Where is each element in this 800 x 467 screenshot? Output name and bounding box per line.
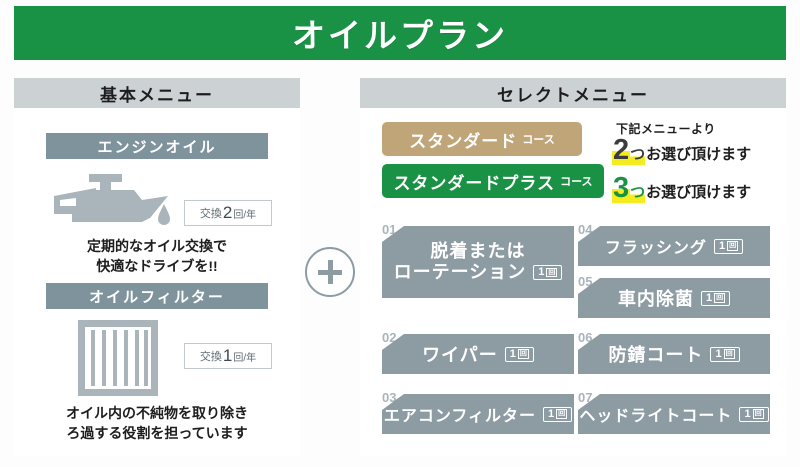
menu-item-03-count-badge: 1 回 (543, 407, 572, 422)
oil-filter-description-line2: ろ過する役割を担っています (14, 423, 300, 443)
oil-filter-badge-unit: 回/年 (233, 349, 256, 364)
menu-item-04-label: フラッシング (605, 234, 707, 258)
menu-item-07[interactable]: ヘッドライトコート 1 回 (578, 394, 770, 434)
course-standard-plus-name: スタンダードプラス (393, 169, 555, 194)
oil-filter-icon (76, 318, 160, 398)
engine-oil-badge-prefix: 交換 (200, 205, 222, 221)
select-menu-header: セレクトメニュー (360, 78, 786, 108)
menu-item-05-count-value: 1 (706, 293, 712, 304)
pick-count-standard-plus: 3 つ お選び頂けます (612, 174, 751, 203)
oil-filter-title-bar: オイルフィルター (46, 283, 268, 309)
course-standard-button[interactable]: スタンダード コース (382, 122, 582, 156)
course-standard-plus-suffix: コース (560, 173, 592, 189)
plus-icon (305, 247, 355, 297)
page-banner: オイルプラン (14, 6, 786, 60)
menu-item-06-count-badge: 1 回 (710, 347, 739, 362)
engine-oil-title-bar: エンジンオイル (46, 133, 268, 159)
menu-item-05-label: 車内除菌 (618, 285, 694, 311)
menu-item-02[interactable]: ワイパー 1 回 (382, 334, 574, 374)
basic-menu-header-label: 基本メニュー (100, 81, 214, 106)
oil-filter-badge-prefix: 交換 (200, 348, 222, 364)
menu-item-07-count-value: 1 (744, 409, 750, 420)
pick-count-standard-plus-counter: つ (630, 185, 645, 203)
menu-item-05[interactable]: 車内除菌 1 回 (578, 278, 770, 318)
menu-item-01[interactable]: 脱着または ローテーション 1 回 (382, 226, 574, 298)
menu-item-01-label-line2: ローテーション (394, 262, 527, 283)
menu-item-05-count-badge: 1 回 (701, 291, 730, 306)
menu-item-06-count-unit: 回 (724, 349, 735, 359)
menu-item-02-count-value: 1 (510, 349, 516, 360)
menu-item-01-count-value: 1 (538, 267, 544, 278)
oil-filter-description-line1: オイル内の不純物を取り除き (14, 403, 300, 423)
oil-filter-badge-count: 1 (223, 346, 232, 366)
pick-count-standard: 2 つ お選び頂けます (612, 136, 751, 165)
menu-item-04-count-unit: 回 (727, 241, 738, 251)
menu-item-04[interactable]: フラッシング 1 回 (578, 226, 770, 266)
course-standard-name: スタンダード (409, 127, 517, 152)
menu-item-03-label: エアコンフィルター (384, 402, 536, 426)
pick-count-standard-number: 2 (612, 136, 630, 165)
menu-item-05-count-unit: 回 (714, 293, 725, 303)
menu-item-01-label-line1: 脱着または (430, 241, 525, 262)
menu-item-07-count-badge: 1 回 (739, 407, 768, 422)
menu-item-03[interactable]: エアコンフィルター 1 回 (382, 394, 574, 434)
engine-oil-description-line1: 定期的なオイル交換で (14, 236, 300, 256)
menu-item-04-count-badge: 1 回 (714, 239, 743, 254)
course-standard-suffix: コース (522, 131, 554, 147)
oil-filter-frequency-badge: 交換 1 回/年 (184, 343, 272, 369)
menu-item-02-count-badge: 1 回 (505, 347, 534, 362)
menu-item-01-count-badge: 1 回 (533, 265, 562, 280)
pick-count-standard-plus-tail: お選び頂けます (646, 185, 751, 203)
menu-item-03-count-unit: 回 (556, 409, 567, 419)
engine-oil-description-line2: 快適なドライブを!! (14, 256, 300, 276)
pick-count-standard-tail: お選び頂けます (646, 147, 751, 165)
engine-oil-title: エンジンオイル (97, 136, 216, 157)
engine-oil-badge-count: 2 (223, 203, 232, 223)
menu-item-01-count-unit: 回 (546, 268, 557, 278)
engine-oil-description: 定期的なオイル交換で 快適なドライブを!! (14, 236, 300, 277)
engine-oil-frequency-badge: 交換 2 回/年 (184, 200, 272, 226)
oil-filter-description: オイル内の不純物を取り除き ろ過する役割を担っています (14, 403, 300, 444)
menu-item-07-label: ヘッドライトコート (579, 402, 732, 426)
pick-count-standard-counter: つ (630, 147, 645, 165)
page-title: オイルプラン (292, 9, 508, 57)
menu-item-06-label: 防錆コート (608, 341, 703, 367)
menu-item-06[interactable]: 防錆コート 1 回 (578, 334, 770, 374)
basic-menu-panel: 基本メニュー エンジンオイル 交換 2 回/年 定期的なオイル交換で 快適なドラ… (14, 78, 300, 456)
menu-item-03-count-value: 1 (548, 409, 554, 420)
menu-item-07-count-unit: 回 (753, 409, 764, 419)
select-menu-panel: セレクトメニュー スタンダード コース スタンダードプラス コース 下記メニュー… (360, 78, 786, 456)
menu-item-02-count-unit: 回 (518, 349, 529, 359)
basic-menu-header: 基本メニュー (14, 78, 300, 108)
oil-filter-title: オイルフィルター (89, 286, 225, 307)
engine-oil-badge-unit: 回/年 (233, 206, 256, 221)
menu-item-02-label: ワイパー (422, 341, 498, 367)
menu-item-06-count-value: 1 (715, 349, 721, 360)
pick-count-standard-plus-number: 3 (612, 174, 630, 203)
select-menu-header-label: セレクトメニュー (497, 81, 649, 106)
oil-can-icon (50, 174, 180, 232)
infographic-root: オイルプラン 基本メニュー エンジンオイル 交換 2 回/年 定期的なオイル交換… (0, 0, 800, 467)
pick-note: 下記メニューより (616, 120, 716, 137)
menu-item-04-count-value: 1 (719, 241, 725, 252)
course-standard-plus-button[interactable]: スタンダードプラス コース (382, 164, 604, 198)
